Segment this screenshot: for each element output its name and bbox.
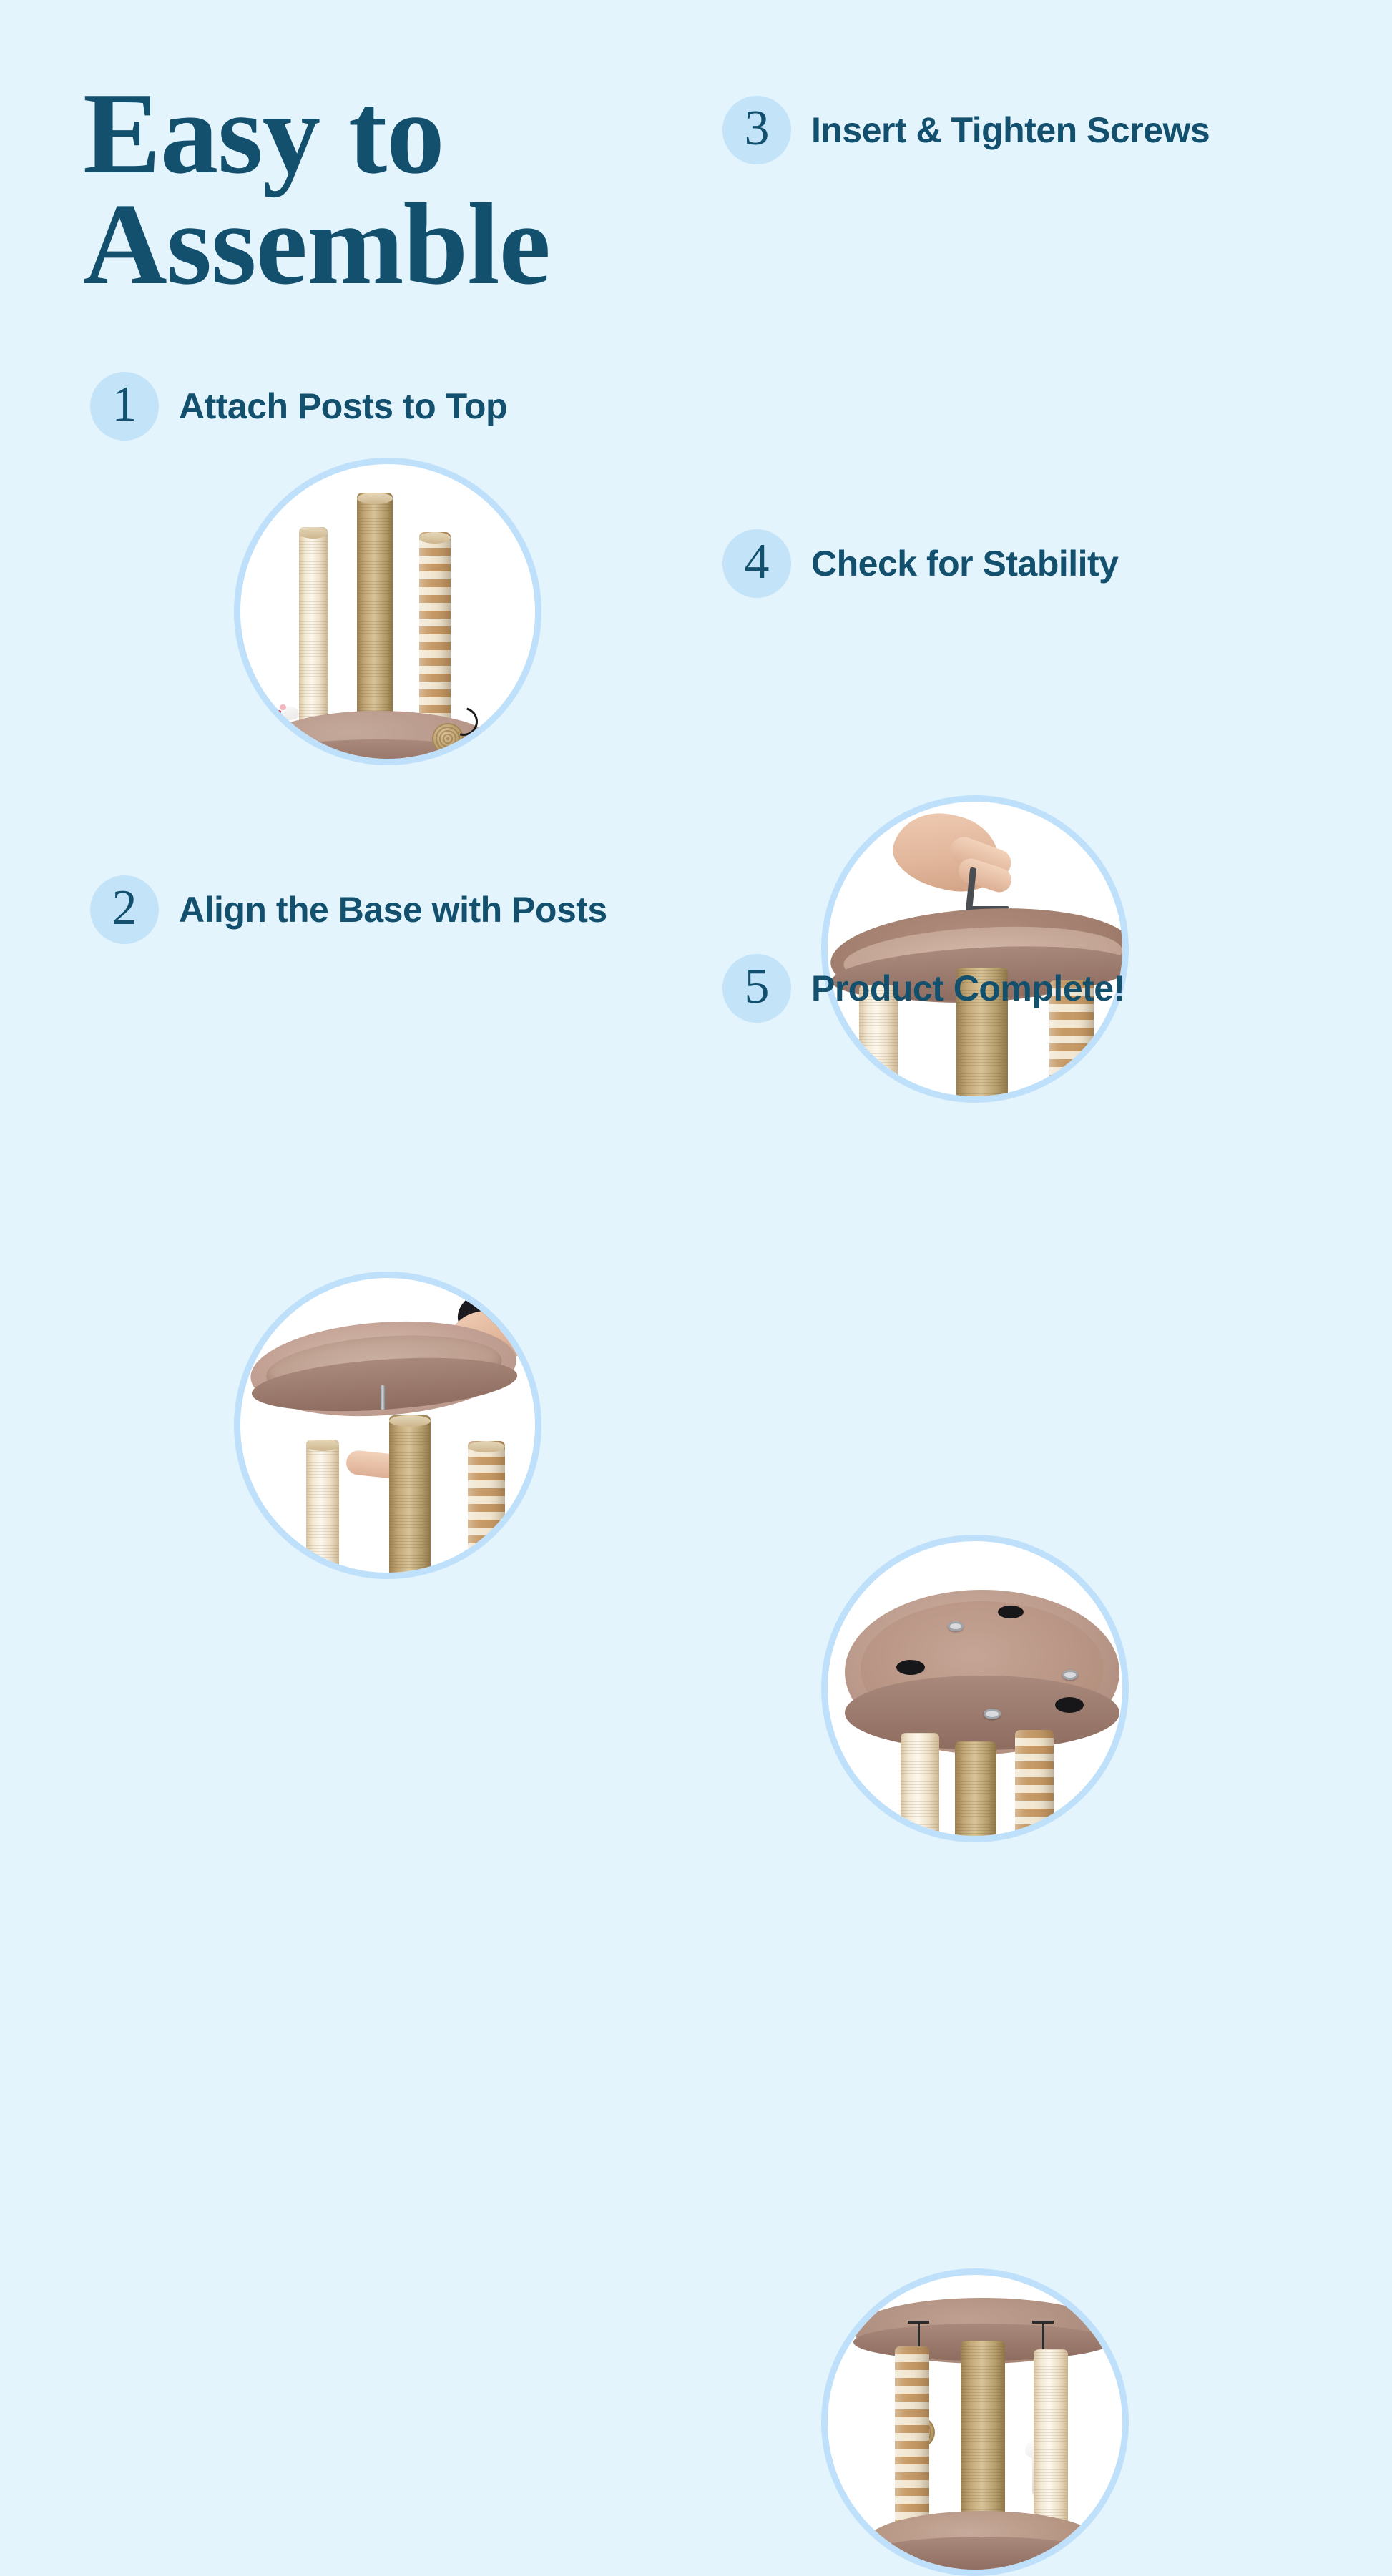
post-striped [468, 1441, 505, 1579]
page-title-line-1: Easy to [83, 69, 444, 198]
bottom-base [865, 2511, 1101, 2575]
post-cream [1034, 2349, 1068, 2538]
post-cream [306, 1440, 339, 1579]
bottom-base-rim [865, 2537, 1101, 2572]
step-3-heading: Insert & Tighten Screws [811, 109, 1210, 151]
rubber-foot [896, 1660, 925, 1675]
page-title: Easy to Assemble [83, 79, 670, 300]
step-4-header: 4 Check for Stability [722, 529, 1119, 598]
step-5-header: 5 Product Complete! [722, 954, 1125, 1023]
step-1: 1 Attach Posts to Top [90, 372, 507, 441]
post-cream [299, 527, 328, 734]
post-tan [389, 1415, 431, 1579]
screw-cap [1062, 1670, 1078, 1680]
screw-cap [948, 1621, 964, 1631]
step-1-heading: Attach Posts to Top [179, 385, 507, 427]
step-4-photo [821, 1535, 1129, 1842]
infographic-canvas: Easy to Assemble 1 Attach Posts to Top [0, 0, 1392, 1392]
step-1-badge: 1 [90, 372, 159, 441]
post-top-cap [389, 1415, 431, 1427]
step-3-photo [821, 795, 1129, 1103]
page-title-line-2: Assemble [83, 190, 670, 300]
step-2-heading: Align the Base with Posts [179, 889, 607, 930]
mouse-eye [278, 710, 281, 714]
step-5-photo [821, 2268, 1129, 2576]
post-striped [419, 532, 451, 739]
post-top-cap [357, 493, 393, 504]
mouse-ear [280, 704, 286, 710]
step-2-badge: 2 [90, 875, 159, 944]
step-4-heading: Check for Stability [811, 543, 1119, 584]
post-tan [961, 2341, 1005, 2538]
step-3-badge: 3 [722, 96, 791, 164]
screw-cap [984, 1709, 1001, 1719]
post-top-cap [468, 1441, 505, 1452]
post-cream [901, 1733, 939, 1842]
step-3-header: 3 Insert & Tighten Screws [722, 96, 1210, 164]
step-5-heading: Product Complete! [811, 968, 1125, 1009]
step-5: 5 Product Complete! [722, 954, 1125, 1023]
post-top-cap [299, 527, 328, 539]
post-tan [955, 1741, 996, 1842]
step-4-badge: 4 [722, 529, 791, 598]
post-striped [895, 2346, 929, 2538]
step-4: 4 Check for Stability [722, 529, 1119, 598]
string-anchor [908, 2321, 929, 2324]
rubber-foot [998, 1606, 1024, 1618]
post-striped [1015, 1730, 1054, 1842]
step-3: 3 Insert & Tighten Screws [722, 96, 1210, 164]
step-1-photo [234, 458, 541, 765]
post-top-cap [419, 532, 451, 544]
rubber-foot [1055, 1697, 1084, 1713]
top-plate-rim [845, 1676, 1119, 1750]
screw [381, 1385, 385, 1410]
step-2: 2 Align the Base with Posts [90, 875, 607, 944]
top-plate [845, 1590, 1119, 1754]
post-top-cap [306, 1440, 339, 1451]
post-tan [357, 493, 393, 743]
step-2-photo [234, 1272, 541, 1579]
string-anchor [1032, 2321, 1054, 2324]
step-5-badge: 5 [722, 954, 791, 1023]
step-1-header: 1 Attach Posts to Top [90, 372, 507, 441]
step-2-header: 2 Align the Base with Posts [90, 875, 607, 944]
